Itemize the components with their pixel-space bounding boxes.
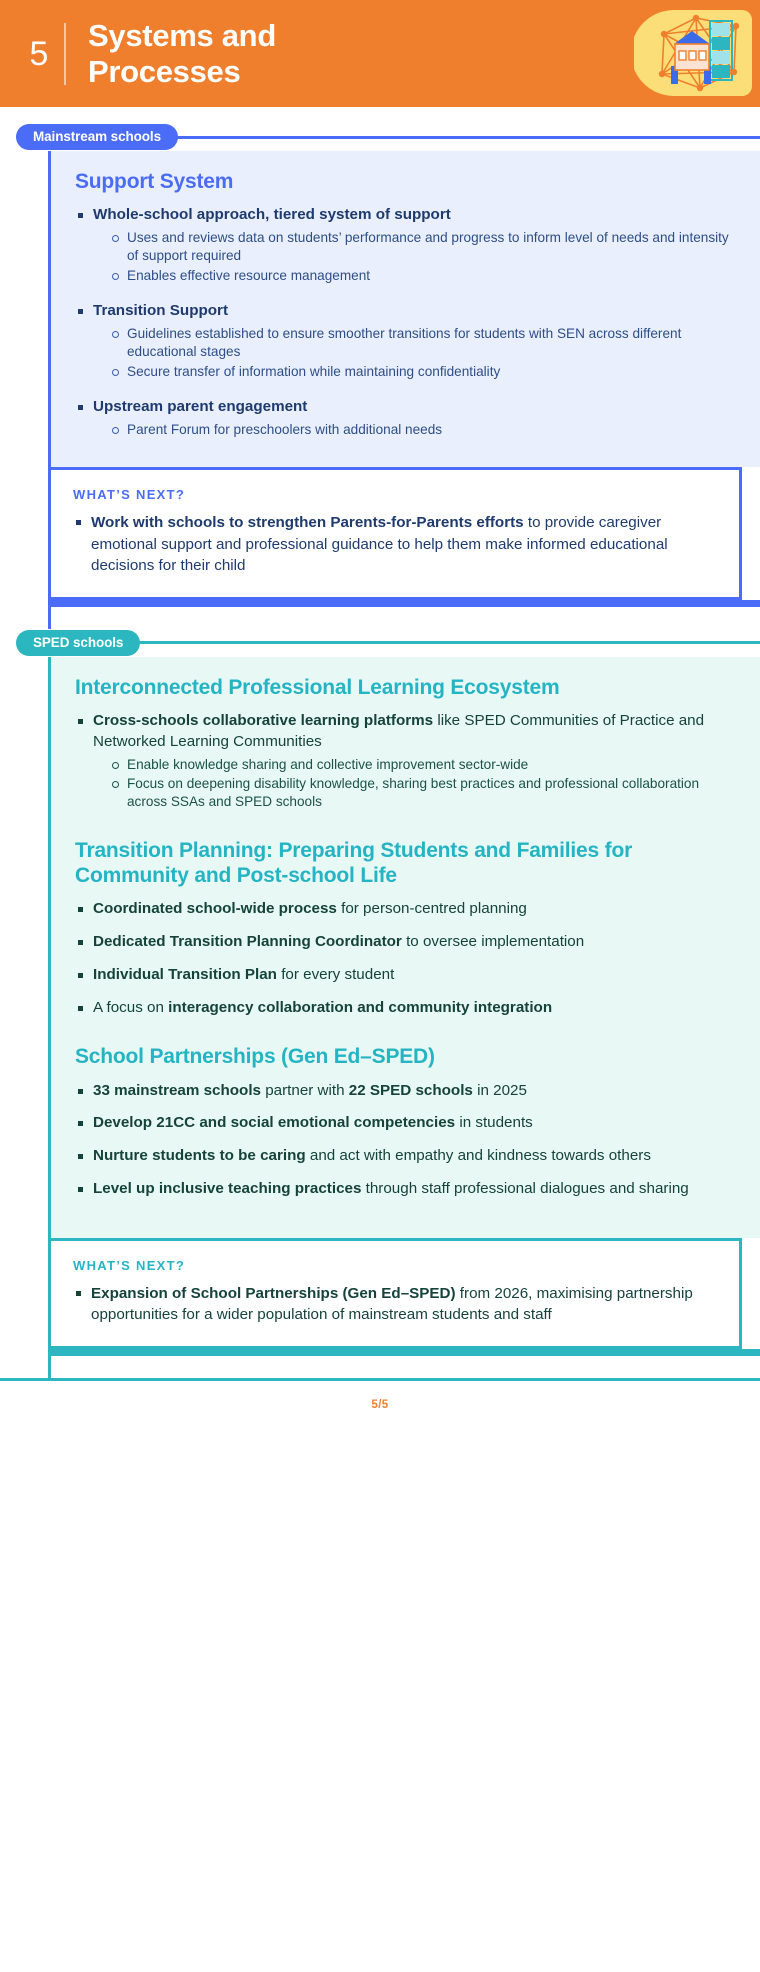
sped-partnerships-list: 33 mainstream schools partner with 22 SP… — [75, 1081, 736, 1200]
list-item: Nurture students to be caring and act wi… — [75, 1146, 736, 1167]
sub-list: Uses and reviews data on students’ perfo… — [93, 229, 736, 285]
sub-list: Parent Forum for preschoolers with addit… — [93, 421, 736, 439]
list-item: Dedicated Transition Planning Coordinato… — [75, 932, 736, 953]
tab-mainstream-schools[interactable]: Mainstream schools — [16, 124, 178, 150]
sped-panel-tail — [51, 1356, 760, 1378]
chapter-number: 5 — [18, 37, 60, 71]
tab-sped-schools[interactable]: SPED schools — [16, 630, 140, 656]
list-item: Develop 21CC and social emotional compet… — [75, 1113, 736, 1134]
sub-list-item: Focus on deepening disability knowledge,… — [93, 775, 736, 812]
sped-heading-school-partnerships: School Partnerships (Gen Ed–SPED) — [75, 1044, 736, 1069]
whats-next-title: WHAT’S NEXT? — [73, 1258, 717, 1273]
sub-list-item: Parent Forum for preschoolers with addit… — [93, 421, 736, 439]
section-mainstream-schools: Mainstream schools Support System Whole-… — [0, 123, 760, 629]
page-footer: 5/5 — [0, 1381, 760, 1425]
sped-heading-transition-planning: Transition Planning: Preparing Students … — [75, 838, 736, 888]
sped-panel-body: Interconnected Professional Learning Eco… — [51, 657, 760, 1238]
school-network-icon — [634, 6, 752, 100]
mainstream-panel: Support System Whole-school approach, ti… — [48, 151, 760, 629]
mainstream-whats-next-box: WHAT’S NEXT? Work with schools to streng… — [48, 467, 742, 600]
sub-list-item: Guidelines established to ensure smoothe… — [93, 325, 736, 362]
sub-list-item: Uses and reviews data on students’ perfo… — [93, 229, 736, 266]
sped-panel-foot — [48, 1349, 760, 1356]
footer-rule — [0, 1378, 760, 1381]
header-spacer — [0, 107, 760, 123]
list-item: A focus on interagency collaboration and… — [75, 998, 736, 1019]
section-sped-schools: SPED schools Interconnected Professional… — [0, 629, 760, 1381]
list-item: Cross-schools collaborative learning pla… — [75, 711, 736, 812]
sub-list-item: Enables effective resource management — [93, 267, 736, 285]
sub-list: Guidelines established to ensure smoothe… — [93, 325, 736, 381]
page-number: 5/5 — [371, 1399, 388, 1411]
page-root: 5 Systems and Processes — [0, 0, 760, 1972]
list-item: Transition Support Guidelines establishe… — [75, 301, 736, 381]
bullet-text: Upstream parent engagement — [93, 398, 307, 415]
whats-next-list: Expansion of School Partnerships (Gen Ed… — [73, 1283, 717, 1326]
sped-heading-learning-ecosystem: Interconnected Professional Learning Eco… — [75, 675, 736, 700]
sped-ecosystem-list: Cross-schools collaborative learning pla… — [75, 711, 736, 812]
header-divider — [64, 23, 66, 85]
whats-next-item: Work with schools to strengthen Parents-… — [73, 512, 717, 577]
sped-tab-row: SPED schools — [0, 629, 760, 657]
page-title: Systems and Processes — [88, 18, 418, 90]
list-item: Upstream parent engagement Parent Forum … — [75, 397, 736, 439]
bullet-text: Cross-schools collaborative learning pla… — [93, 712, 704, 750]
sped-tab-rule — [100, 641, 760, 644]
mainstream-panel-tail — [51, 607, 760, 629]
list-item: 33 mainstream schools partner with 22 SP… — [75, 1081, 736, 1102]
bullet-text: Transition Support — [93, 302, 228, 319]
mainstream-panel-body: Support System Whole-school approach, ti… — [51, 151, 760, 467]
sub-list-item: Secure transfer of information while mai… — [93, 363, 736, 381]
list-item: Individual Transition Plan for every stu… — [75, 965, 736, 986]
whats-next-item: Expansion of School Partnerships (Gen Ed… — [73, 1283, 717, 1326]
whats-next-list: Work with schools to strengthen Parents-… — [73, 512, 717, 577]
mainstream-panel-foot — [48, 600, 760, 607]
sub-list: Enable knowledge sharing and collective … — [93, 756, 736, 812]
sub-list-item: Enable knowledge sharing and collective … — [93, 756, 736, 774]
mainstream-tab-rule — [100, 136, 760, 139]
mainstream-heading-support-system: Support System — [75, 169, 736, 194]
sped-whats-next-box: WHAT’S NEXT? Expansion of School Partner… — [48, 1238, 742, 1349]
whats-next-title: WHAT’S NEXT? — [73, 487, 717, 502]
list-item: Whole-school approach, tiered system of … — [75, 205, 736, 285]
bullet-text: Whole-school approach, tiered system of … — [93, 206, 451, 223]
sped-panel: Interconnected Professional Learning Eco… — [48, 657, 760, 1378]
list-item: Level up inclusive teaching practices th… — [75, 1179, 736, 1200]
mainstream-bullet-list: Whole-school approach, tiered system of … — [75, 205, 736, 439]
list-item: Coordinated school-wide process for pers… — [75, 899, 736, 920]
mainstream-tab-row: Mainstream schools — [0, 123, 760, 151]
sped-transition-list: Coordinated school-wide process for pers… — [75, 899, 736, 1018]
page-header: 5 Systems and Processes — [0, 0, 760, 107]
